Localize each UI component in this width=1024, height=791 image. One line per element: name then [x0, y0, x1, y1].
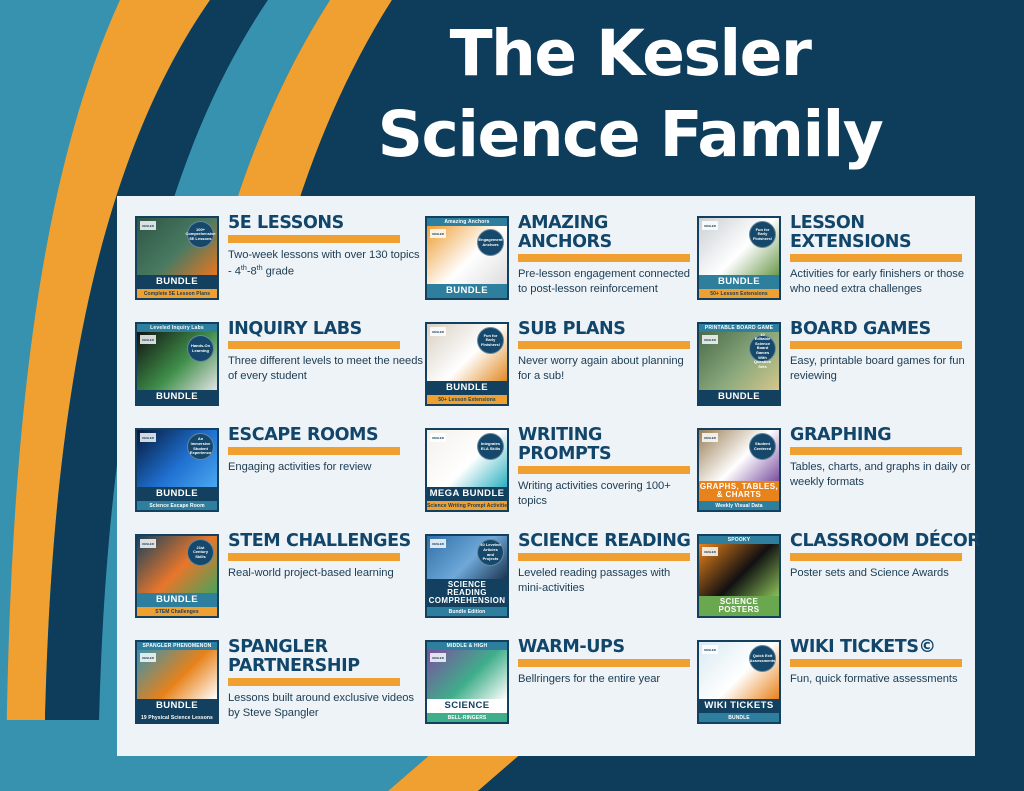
- orange-accent-rule: [790, 341, 962, 349]
- thumbnail-band-label: SCIENCE READING COMPREHENSION: [427, 579, 507, 608]
- product-item[interactable]: PRINTABLE BOARD GAMEIncludes 10 Editable…: [697, 318, 987, 424]
- product-thumbnail[interactable]: Integrates ELA SkillsKESLERMEGA BUNDLESc…: [425, 428, 509, 512]
- thumbnail-artwork: KESLER: [427, 650, 507, 699]
- product-thumbnail[interactable]: Leveled Inquiry LabsHands-On LearningKES…: [135, 322, 219, 406]
- thumbnail-artwork: Includes 10 Editable Science Board Games…: [699, 332, 779, 390]
- thumbnail-artwork: Engagement AnchorsKESLER: [427, 226, 507, 284]
- product-info: AMAZING ANCHORSPre-lesson engagement con…: [518, 212, 697, 297]
- product-item[interactable]: MIDDLE & HIGHKESLERSCIENCEBELL-RINGERSWA…: [425, 636, 697, 742]
- product-info: BOARD GAMESEasy, printable board games f…: [790, 318, 987, 384]
- kesler-logo-icon: KESLER: [430, 229, 446, 238]
- product-title: INQUIRY LABS: [228, 320, 425, 339]
- thumbnail-band-label: BUNDLE: [137, 593, 217, 607]
- product-info: WIKI TICKETS©Fun, quick formative assess…: [790, 636, 987, 687]
- product-info: CLASSROOM DÉCORPoster sets and Science A…: [790, 530, 987, 581]
- product-title: WRITING PROMPTS: [518, 426, 697, 464]
- thumbnail-sub-label: Science Writing Prompt Activities: [427, 501, 507, 510]
- product-thumbnail[interactable]: SPANGLER PHENOMENONKESLERBUNDLE19 Physic…: [135, 640, 219, 724]
- product-title: GRAPHING: [790, 426, 987, 445]
- thumbnail-band-label: BUNDLE: [699, 275, 779, 289]
- orange-accent-rule: [518, 659, 690, 667]
- product-thumbnail[interactable]: PRINTABLE BOARD GAMEIncludes 10 Editable…: [697, 322, 781, 406]
- orange-accent-rule: [228, 341, 400, 349]
- kesler-logo-icon: KESLER: [140, 433, 156, 442]
- product-description: Pre-lesson engagement connected to post-…: [518, 267, 697, 297]
- orange-accent-rule: [228, 553, 400, 561]
- thumbnail-top-label: SPOOKY: [699, 536, 779, 544]
- product-item[interactable]: Fun for Early Finishers!KESLERBUNDLE50+ …: [425, 318, 697, 424]
- product-title: SPANGLER PARTNERSHIP: [228, 638, 425, 676]
- product-info: ESCAPE ROOMSEngaging activities for revi…: [228, 424, 425, 475]
- orange-accent-rule: [790, 447, 962, 455]
- thumbnail-artwork: Hands-On LearningKESLER: [137, 332, 217, 390]
- thumbnail-artwork: Fun for Early Finishers!KESLER: [427, 324, 507, 381]
- kesler-logo-icon: KESLER: [430, 327, 446, 336]
- product-description: Real-world project-based learning: [228, 566, 425, 581]
- thumbnail-band-label: SCIENCE: [427, 699, 507, 713]
- thumbnail-sub-label: STEM Challenges: [137, 607, 217, 616]
- thumbnail-band-label: WIKI TICKETS: [699, 699, 779, 713]
- product-item[interactable]: Leveled Inquiry LabsHands-On LearningKES…: [135, 318, 425, 424]
- thumbnail-band-label: BUNDLE: [427, 284, 507, 298]
- product-title: CLASSROOM DÉCOR: [790, 532, 987, 551]
- thumbnail-band-label: MEGA BUNDLE: [427, 487, 507, 501]
- product-title: SCIENCE READING: [518, 532, 697, 551]
- product-thumbnail[interactable]: SPOOKYKESLERSCIENCE POSTERS: [697, 534, 781, 618]
- thumbnail-sub-label: Bundle Edition: [427, 607, 507, 616]
- orange-accent-rule: [790, 553, 962, 561]
- product-title: STEM CHALLENGES: [228, 532, 425, 551]
- thumbnail-sub-label: 19 Physical Science Lessons: [137, 713, 217, 722]
- product-thumbnail[interactable]: Student CenteredKESLERGRAPHS, TABLES, & …: [697, 428, 781, 512]
- product-thumbnail[interactable]: Fun for Early Finishers!KESLERBUNDLE50+ …: [425, 322, 509, 406]
- thumbnail-top-label: Amazing Anchors: [427, 218, 507, 226]
- product-item[interactable]: Amazing AnchorsEngagement AnchorsKESLERB…: [425, 212, 697, 318]
- thumbnail-badge: Quick Exit Assessments: [749, 645, 776, 672]
- thumbnail-sub-label: Complete 5E Lesson Plans: [137, 289, 217, 298]
- thumbnail-artwork: 40 Leveled Articles and ProjectsKESLER: [427, 536, 507, 579]
- product-info: INQUIRY LABSThree different levels to me…: [228, 318, 425, 384]
- product-item[interactable]: Quick Exit AssessmentsKESLERWIKI TICKETS…: [697, 636, 987, 742]
- orange-accent-rule: [518, 341, 690, 349]
- product-item[interactable]: Integrates ELA SkillsKESLERMEGA BUNDLESc…: [425, 424, 697, 530]
- orange-accent-rule: [790, 254, 962, 262]
- product-description: Poster sets and Science Awards: [790, 566, 987, 581]
- thumbnail-band-label: BUNDLE: [427, 381, 507, 395]
- kesler-logo-icon: KESLER: [702, 433, 718, 442]
- product-description: Leveled reading passages with mini-activ…: [518, 566, 697, 596]
- product-item[interactable]: 40 Leveled Articles and ProjectsKESLERSC…: [425, 530, 697, 636]
- product-description: Fun, quick formative assessments: [790, 672, 987, 687]
- kesler-logo-icon: KESLER: [140, 221, 156, 230]
- product-title: BOARD GAMES: [790, 320, 987, 339]
- product-info: SPANGLER PARTNERSHIPLessons built around…: [228, 636, 425, 721]
- product-description: Never worry again about planning for a s…: [518, 354, 697, 384]
- thumbnail-band-label: BUNDLE: [699, 390, 779, 404]
- products-panel: 100+ Comprehensive 5E LessonsKESLERBUNDL…: [117, 196, 975, 756]
- product-thumbnail[interactable]: MIDDLE & HIGHKESLERSCIENCEBELL-RINGERS: [425, 640, 509, 724]
- kesler-logo-icon: KESLER: [140, 539, 156, 548]
- product-thumbnail[interactable]: 100+ Comprehensive 5E LessonsKESLERBUNDL…: [135, 216, 219, 300]
- product-info: SUB PLANSNever worry again about plannin…: [518, 318, 697, 384]
- thumbnail-band-label: SCIENCE POSTERS: [699, 596, 779, 617]
- product-info: WRITING PROMPTSWriting activities coveri…: [518, 424, 697, 509]
- product-thumbnail[interactable]: An Immersive Student ExperienceKESLERBUN…: [135, 428, 219, 512]
- orange-accent-rule: [518, 466, 690, 474]
- product-title: WARM-UPS: [518, 638, 697, 657]
- thumbnail-sub-label: Science Escape Room: [137, 501, 217, 510]
- product-description: Bellringers for the entire year: [518, 672, 697, 687]
- product-description: Easy, printable board games for fun revi…: [790, 354, 987, 384]
- orange-accent-rule: [790, 659, 962, 667]
- kesler-logo-icon: KESLER: [430, 539, 446, 548]
- products-grid: 100+ Comprehensive 5E LessonsKESLERBUNDL…: [135, 212, 961, 742]
- thumbnail-top-label: PRINTABLE BOARD GAME: [699, 324, 779, 332]
- thumbnail-top-label: SPANGLER PHENOMENON: [137, 642, 217, 650]
- product-description: Tables, charts, and graphs in daily or w…: [790, 460, 987, 490]
- title-line-2: Science Family: [300, 95, 960, 176]
- product-item[interactable]: 21st Century SkillsKESLERBUNDLESTEM Chal…: [135, 530, 425, 636]
- thumbnail-badge: Student Centered: [749, 433, 776, 460]
- thumbnail-badge: Engagement Anchors: [477, 229, 504, 256]
- thumbnail-badge: 21st Century Skills: [187, 539, 214, 566]
- product-title: ESCAPE ROOMS: [228, 426, 425, 445]
- thumbnail-top-label: MIDDLE & HIGH: [427, 642, 507, 650]
- kesler-logo-icon: KESLER: [140, 335, 156, 344]
- product-title: AMAZING ANCHORS: [518, 214, 697, 252]
- product-description: Engaging activities for review: [228, 460, 425, 475]
- product-description: Three different levels to meet the needs…: [228, 354, 425, 384]
- product-item[interactable]: SPOOKYKESLERSCIENCE POSTERSCLASSROOM DÉC…: [697, 530, 987, 636]
- thumbnail-badge: Fun for Early Finishers!: [749, 221, 776, 248]
- thumbnail-badge: Hands-On Learning: [187, 335, 214, 362]
- product-title: LESSON EXTENSIONS: [790, 214, 987, 252]
- product-item[interactable]: SPANGLER PHENOMENONKESLERBUNDLE19 Physic…: [135, 636, 425, 742]
- thumbnail-sub-label: BUNDLE: [699, 713, 779, 722]
- poster-title: The Kesler Science Family: [300, 14, 960, 175]
- kesler-logo-icon: KESLER: [702, 645, 718, 654]
- thumbnail-badge: Integrates ELA Skills: [477, 433, 504, 460]
- product-info: WARM-UPSBellringers for the entire year: [518, 636, 697, 687]
- thumbnail-sub-label: 50+ Lesson Extensions: [699, 289, 779, 298]
- thumbnail-artwork: Fun for Early Finishers!KESLER: [699, 218, 779, 275]
- product-description: Two-week lessons with over 130 topics - …: [228, 248, 425, 280]
- thumbnail-artwork: Quick Exit AssessmentsKESLER: [699, 642, 779, 699]
- thumbnail-artwork: KESLER: [137, 650, 217, 699]
- product-thumbnail[interactable]: Quick Exit AssessmentsKESLERWIKI TICKETS…: [697, 640, 781, 724]
- product-description: Lessons built around exclusive videos by…: [228, 691, 425, 721]
- orange-accent-rule: [228, 447, 400, 455]
- product-item[interactable]: Fun for Early Finishers!KESLERBUNDLE50+ …: [697, 212, 987, 318]
- thumbnail-sub-label: 50+ Lesson Extensions: [427, 395, 507, 404]
- orange-accent-rule: [518, 553, 690, 561]
- thumbnail-badge: 100+ Comprehensive 5E Lessons: [187, 221, 214, 248]
- thumbnail-artwork: An Immersive Student ExperienceKESLER: [137, 430, 217, 487]
- title-line-1: The Kesler: [300, 14, 960, 95]
- product-description: Writing activities covering 100+ topics: [518, 479, 697, 509]
- product-thumbnail[interactable]: 40 Leveled Articles and ProjectsKESLERSC…: [425, 534, 509, 618]
- thumbnail-band-label: BUNDLE: [137, 390, 217, 404]
- thumbnail-sub-label: Weekly Visual Data: [699, 501, 779, 510]
- thumbnail-badge: Includes 10 Editable Science Board Games…: [749, 335, 776, 362]
- thumbnail-artwork: Integrates ELA SkillsKESLER: [427, 430, 507, 487]
- thumbnail-badge: An Immersive Student Experience: [187, 433, 214, 460]
- product-info: SCIENCE READINGLeveled reading passages …: [518, 530, 697, 596]
- orange-accent-rule: [518, 254, 690, 262]
- kesler-logo-icon: KESLER: [702, 335, 718, 344]
- product-info: 5E LESSONSTwo-week lessons with over 130…: [228, 212, 425, 279]
- product-item[interactable]: An Immersive Student ExperienceKESLERBUN…: [135, 424, 425, 530]
- product-title: WIKI TICKETS©: [790, 638, 987, 657]
- thumbnail-badge: 40 Leveled Articles and Projects: [477, 539, 504, 566]
- product-info: GRAPHINGTables, charts, and graphs in da…: [790, 424, 987, 490]
- kesler-logo-icon: KESLER: [430, 433, 446, 442]
- product-title: SUB PLANS: [518, 320, 697, 339]
- orange-accent-rule: [228, 678, 400, 686]
- thumbnail-band-label: BUNDLE: [137, 699, 217, 713]
- product-info: STEM CHALLENGESReal-world project-based …: [228, 530, 425, 581]
- thumbnail-artwork: KESLER: [699, 544, 779, 595]
- thumbnail-band-label: BUNDLE: [137, 275, 217, 289]
- kesler-logo-icon: KESLER: [430, 653, 446, 662]
- thumbnail-sub-label: BELL-RINGERS: [427, 713, 507, 722]
- product-thumbnail[interactable]: Fun for Early Finishers!KESLERBUNDLE50+ …: [697, 216, 781, 300]
- thumbnail-artwork: 21st Century SkillsKESLER: [137, 536, 217, 593]
- poster-canvas: The Kesler Science Family 100+ Comprehen…: [0, 0, 1024, 791]
- kesler-logo-icon: KESLER: [702, 547, 718, 556]
- product-thumbnail[interactable]: Amazing AnchorsEngagement AnchorsKESLERB…: [425, 216, 509, 300]
- orange-accent-rule: [228, 235, 400, 243]
- kesler-logo-icon: KESLER: [140, 653, 156, 662]
- product-item[interactable]: Student CenteredKESLERGRAPHS, TABLES, & …: [697, 424, 987, 530]
- product-item[interactable]: 100+ Comprehensive 5E LessonsKESLERBUNDL…: [135, 212, 425, 318]
- thumbnail-top-label: Leveled Inquiry Labs: [137, 324, 217, 332]
- product-description: Activities for early finishers or those …: [790, 267, 987, 297]
- thumbnail-band-label: BUNDLE: [137, 487, 217, 501]
- thumbnail-band-label: GRAPHS, TABLES, & CHARTS: [699, 481, 779, 502]
- product-info: LESSON EXTENSIONSActivities for early fi…: [790, 212, 987, 297]
- thumbnail-badge: Fun for Early Finishers!: [477, 327, 504, 354]
- thumbnail-artwork: 100+ Comprehensive 5E LessonsKESLER: [137, 218, 217, 275]
- product-title: 5E LESSONS: [228, 214, 425, 233]
- product-thumbnail[interactable]: 21st Century SkillsKESLERBUNDLESTEM Chal…: [135, 534, 219, 618]
- kesler-logo-icon: KESLER: [702, 221, 718, 230]
- thumbnail-artwork: Student CenteredKESLER: [699, 430, 779, 481]
